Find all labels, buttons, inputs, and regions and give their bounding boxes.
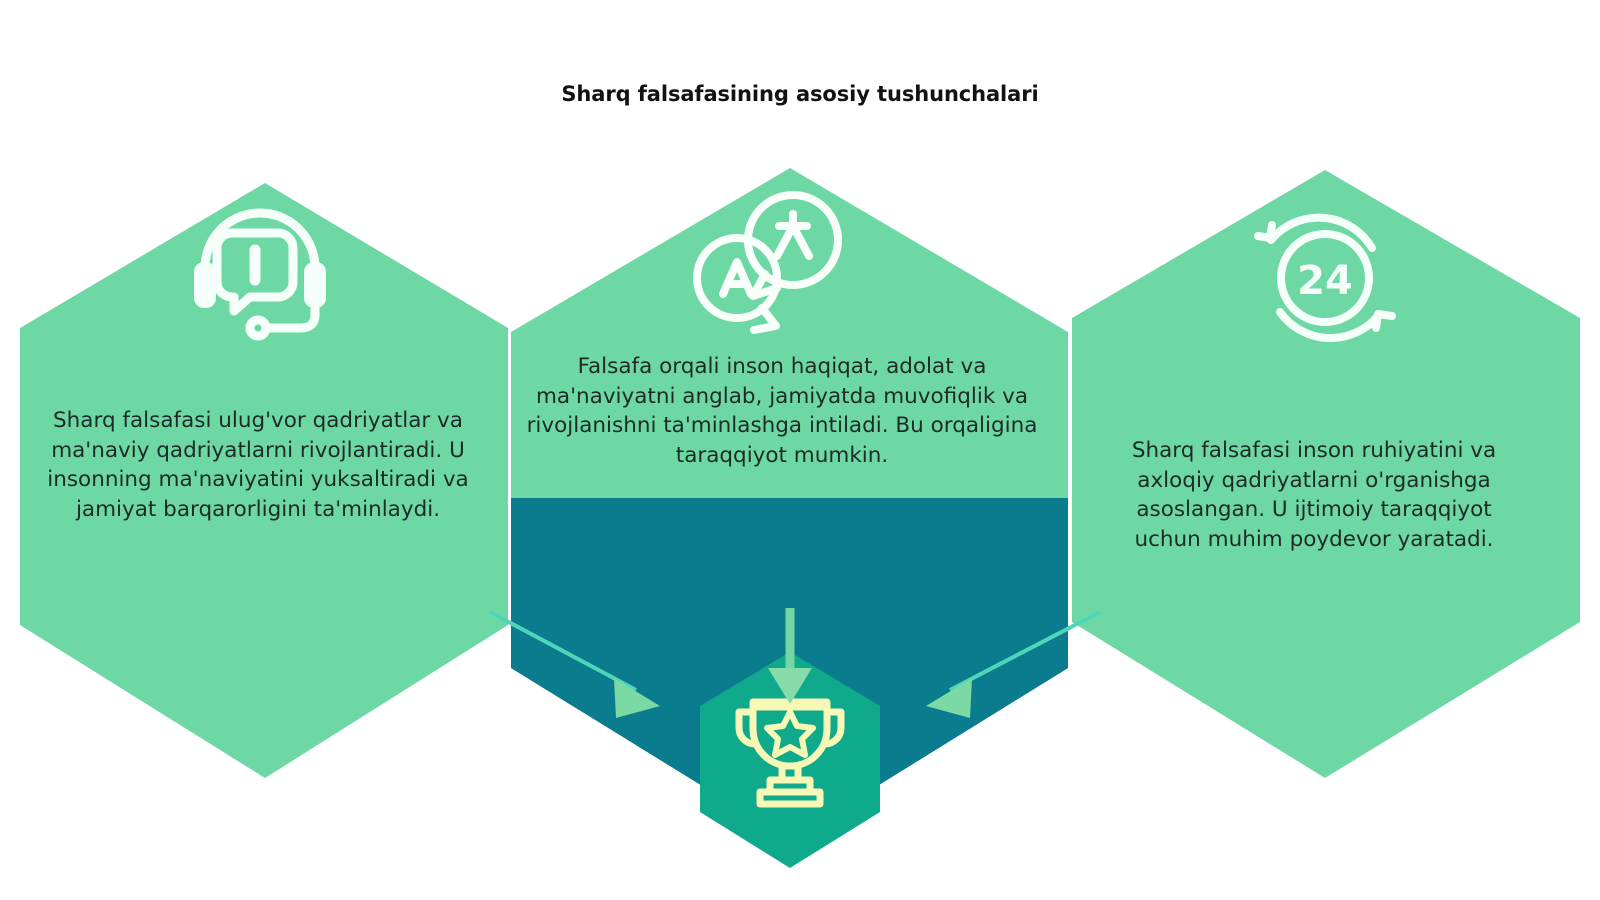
node-center-text: Falsafa orqali inson haqiqat, adolat va … xyxy=(524,352,1040,471)
infographic-canvas: Sharq falsafasining asosiy tushunchalari xyxy=(0,0,1600,900)
node-right-text: Sharq falsafasi inson ruhiyatini va axlo… xyxy=(1100,436,1528,555)
node-left-text: Sharq falsafasi ulug'vor qadriyatlar va … xyxy=(20,406,496,525)
icon-24-label: 24 xyxy=(1297,258,1353,304)
